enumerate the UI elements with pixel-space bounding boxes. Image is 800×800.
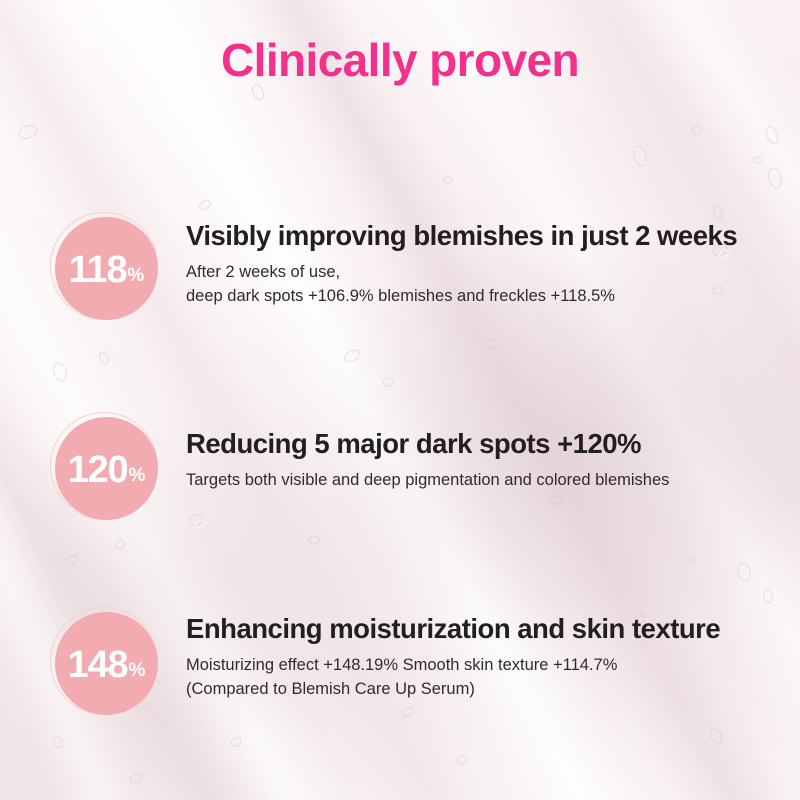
claim-headline: Enhancing moisturization and skin textur… xyxy=(186,613,770,645)
badge-value: 120 xyxy=(68,451,128,489)
claim-description: Moisturizing effect +148.19% Smooth skin… xyxy=(186,654,770,701)
claim-description-line: (Compared to Blemish Care Up Serum) xyxy=(186,678,770,701)
badge-disc: 148 % xyxy=(55,612,158,715)
stat-badge: 148 % xyxy=(50,607,162,719)
badge-value: 118 xyxy=(69,251,127,289)
stat-badge: 120 % xyxy=(50,412,162,524)
badge-percent-symbol: % xyxy=(128,661,145,680)
claim-row: 120 % Reducing 5 major dark spots +120% … xyxy=(0,400,800,530)
claim-description-line: Moisturizing effect +148.19% Smooth skin… xyxy=(186,654,770,677)
clinical-claims-poster: Clinically proven 118 % Visibly improvin… xyxy=(0,0,800,800)
claim-text: Visibly improving blemishes in just 2 we… xyxy=(186,220,770,308)
claim-headline: Reducing 5 major dark spots +120% xyxy=(186,428,770,460)
claim-description-line: deep dark spots +106.9% blemishes and fr… xyxy=(186,285,770,308)
badge-percent-symbol: % xyxy=(128,466,145,485)
badge-value: 148 xyxy=(68,646,128,684)
claim-description: After 2 weeks of use, deep dark spots +1… xyxy=(186,261,770,308)
claim-text: Enhancing moisturization and skin textur… xyxy=(186,613,770,701)
claim-row: 118 % Visibly improving blemishes in jus… xyxy=(0,200,800,330)
claim-headline: Visibly improving blemishes in just 2 we… xyxy=(186,220,770,252)
claim-description: Targets both visible and deep pigmentati… xyxy=(186,469,770,492)
claim-description-line: Targets both visible and deep pigmentati… xyxy=(186,469,770,492)
badge-disc: 120 % xyxy=(55,417,158,520)
claim-row: 148 % Enhancing moisturization and skin … xyxy=(0,595,800,725)
badge-disc: 118 % xyxy=(55,217,158,320)
page-title: Clinically proven xyxy=(0,36,800,86)
badge-percent-symbol: % xyxy=(127,266,144,285)
claim-description-line: After 2 weeks of use, xyxy=(186,261,770,284)
claim-text: Reducing 5 major dark spots +120% Target… xyxy=(186,428,770,493)
stat-badge: 118 % xyxy=(50,212,162,324)
